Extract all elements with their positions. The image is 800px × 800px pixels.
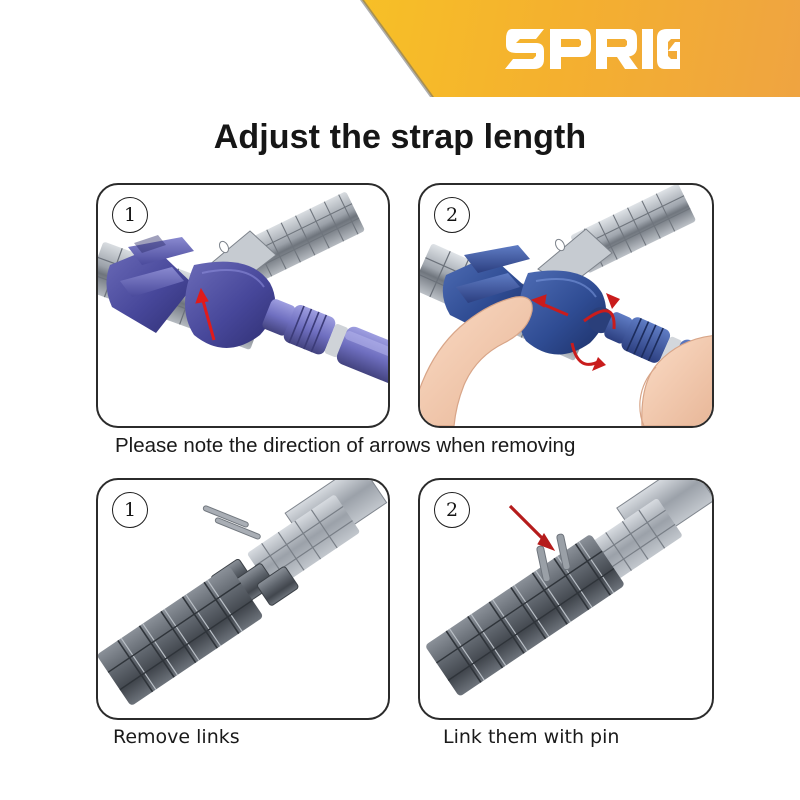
caption-remove-links: Remove links xyxy=(113,726,240,748)
panel-link-with-pin: 2 xyxy=(418,478,714,720)
banner-gradient-shape xyxy=(0,0,800,97)
panel-tool-position: 1 xyxy=(96,183,390,428)
header-banner xyxy=(0,0,800,97)
page-title: Adjust the strap length xyxy=(0,118,800,157)
step-badge: 2 xyxy=(434,492,470,528)
step-badge: 1 xyxy=(112,492,148,528)
panel-remove-links: 1 xyxy=(96,478,390,720)
pins xyxy=(203,505,261,540)
insert-arrow xyxy=(510,506,554,550)
step-badge: 2 xyxy=(434,197,470,233)
left-hand xyxy=(420,297,532,426)
panel-tool-turn-screw: 2 xyxy=(418,183,714,428)
sprig-logo xyxy=(505,26,680,74)
caption-link-with-pin: Link them with pin xyxy=(443,726,619,748)
caption-arrows-direction: Please note the direction of arrows when… xyxy=(115,434,575,458)
step-badge: 1 xyxy=(112,197,148,233)
